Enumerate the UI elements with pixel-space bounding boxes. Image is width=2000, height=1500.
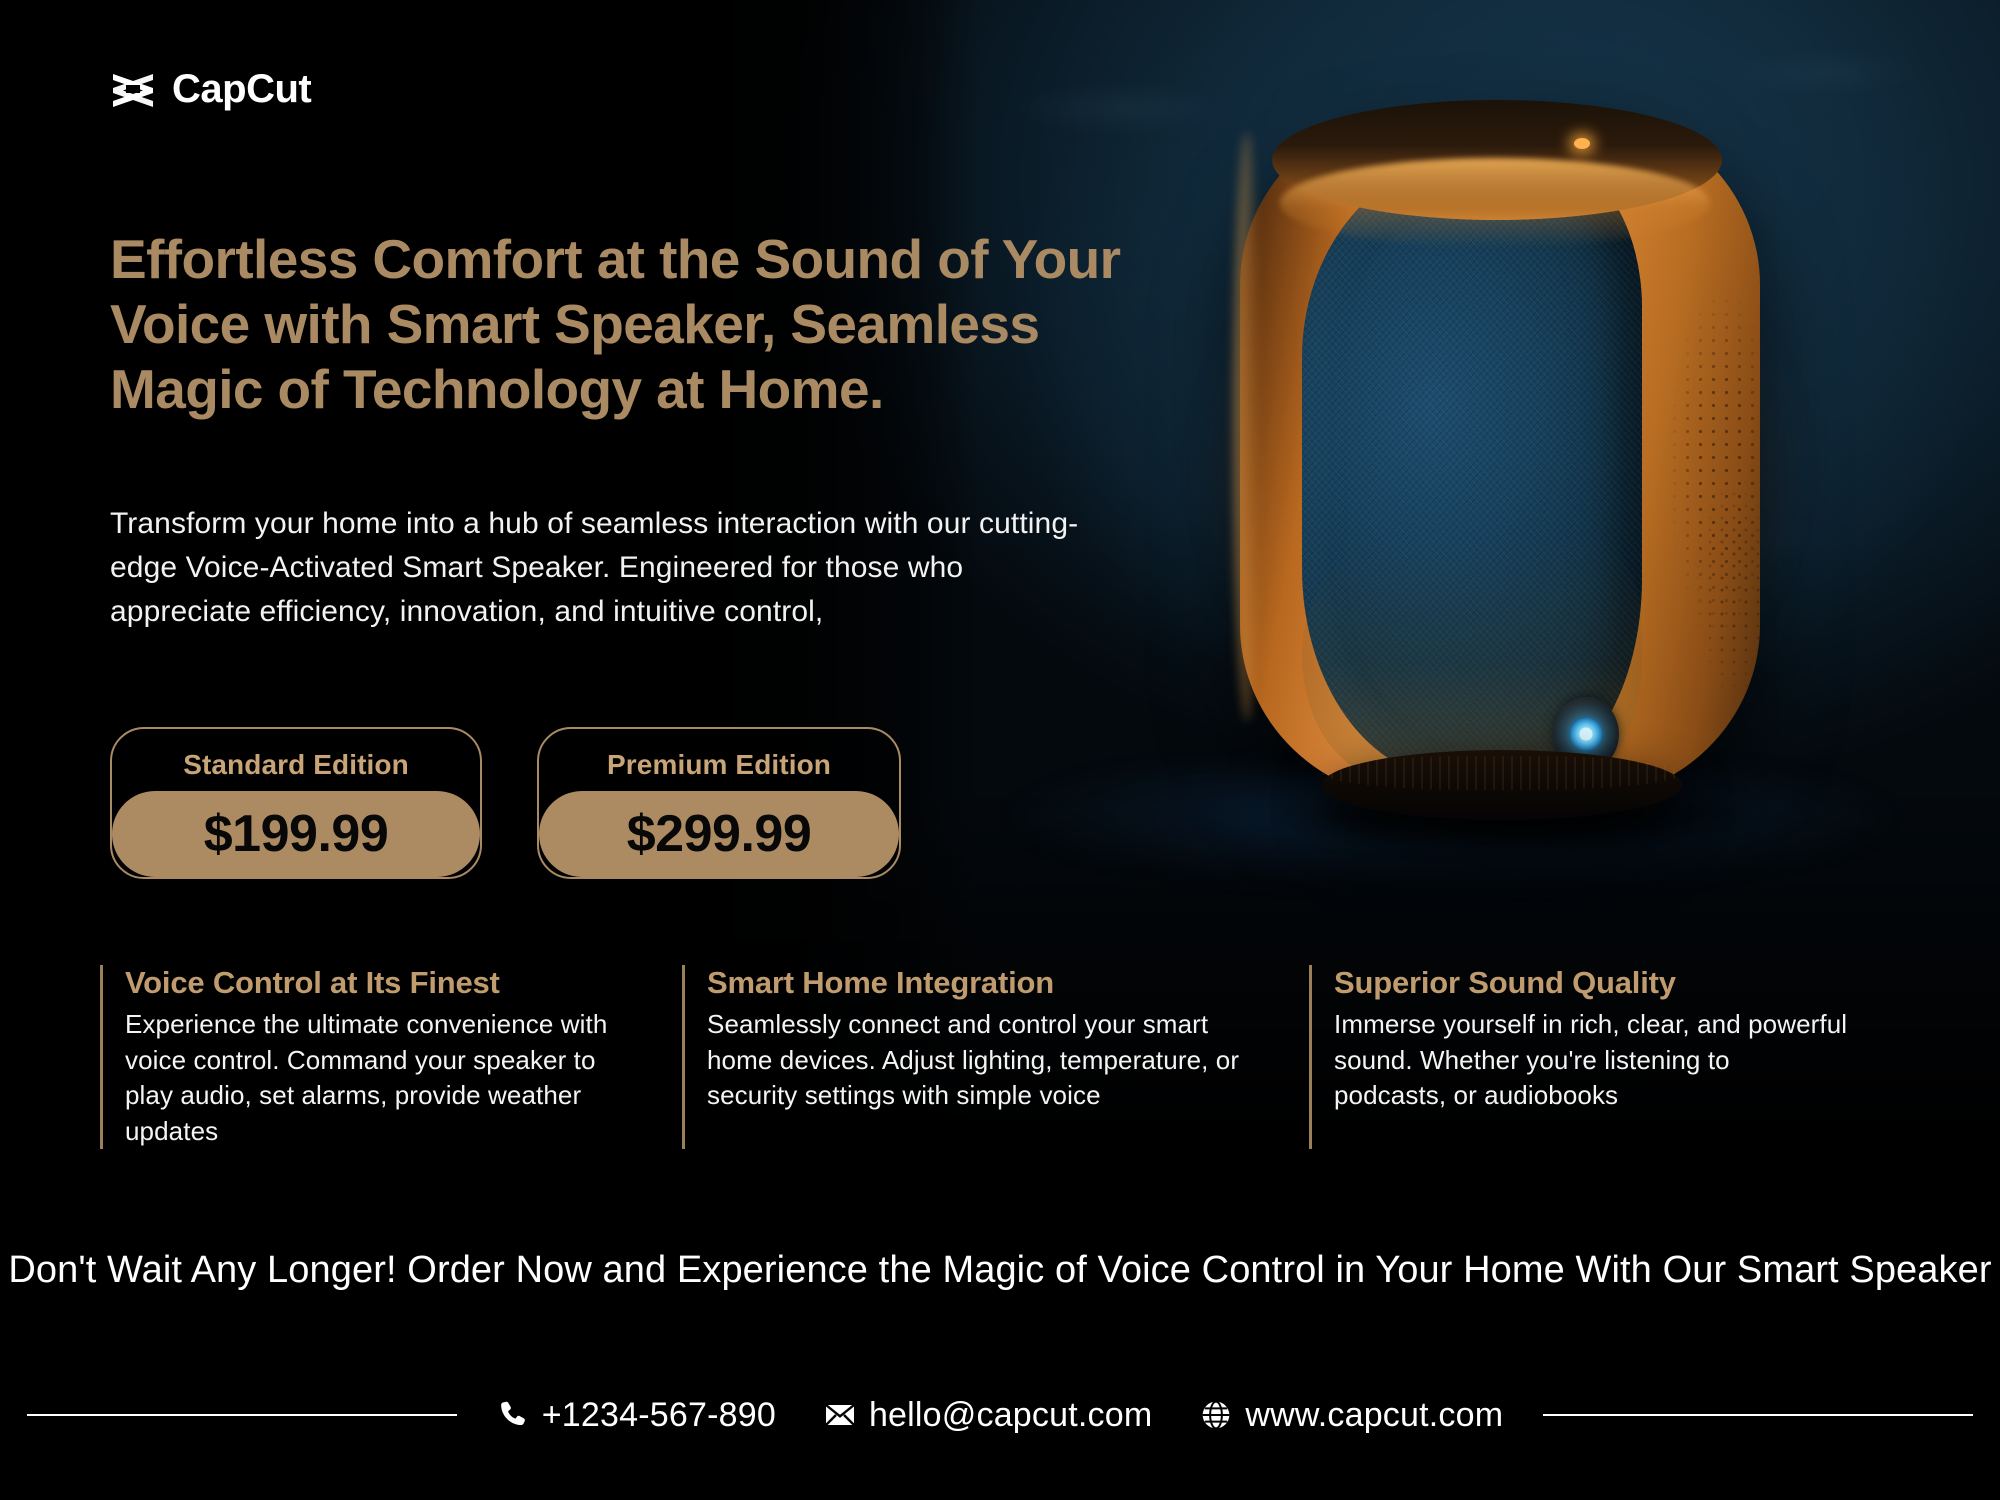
promo-poster: CapCut Effortless Comfort at the Sound o…: [0, 0, 2000, 1500]
globe-icon: [1200, 1399, 1232, 1431]
feature-title: Voice Control at Its Finest: [125, 965, 640, 1001]
contact-website[interactable]: www.capcut.com: [1200, 1396, 1503, 1435]
contact-email-text: hello@capcut.com: [869, 1396, 1152, 1435]
feature-body: Immerse yourself in rich, clear, and pow…: [1334, 1007, 1849, 1114]
footer-divider-left: [27, 1414, 457, 1416]
contact-website-text: www.capcut.com: [1245, 1396, 1503, 1435]
contact-email[interactable]: hello@capcut.com: [824, 1396, 1152, 1435]
phone-icon: [497, 1399, 529, 1431]
feature-body: Experience the ultimate convenience with…: [125, 1007, 640, 1149]
capcut-logo-icon: [110, 68, 156, 110]
page-title: Effortless Comfort at the Sound of Your …: [110, 227, 1170, 422]
footer-contact-bar: +1234-567-890 hello@capcut.com: [0, 1385, 2000, 1445]
brand-logo: CapCut: [110, 68, 311, 110]
feature-title: Smart Home Integration: [707, 965, 1267, 1001]
price-value: $299.99: [539, 791, 899, 877]
price-card-standard[interactable]: Standard Edition $199.99: [110, 727, 482, 879]
intro-paragraph: Transform your home into a hub of seamle…: [110, 502, 1110, 634]
price-value: $199.99: [112, 791, 480, 877]
contact-phone[interactable]: +1234-567-890: [497, 1396, 776, 1435]
pricing-group: Standard Edition $199.99 Premium Edition…: [110, 727, 901, 879]
envelope-icon: [824, 1399, 856, 1431]
price-label: Standard Edition: [183, 741, 409, 791]
contacts-group: +1234-567-890 hello@capcut.com: [497, 1396, 1504, 1435]
brand-name: CapCut: [172, 69, 311, 109]
contact-phone-text: +1234-567-890: [542, 1396, 776, 1435]
feature-card-smart-home: Smart Home Integration Seamlessly connec…: [682, 965, 1267, 1149]
feature-card-sound-quality: Superior Sound Quality Immerse yourself …: [1309, 965, 1849, 1149]
features-row: Voice Control at Its Finest Experience t…: [100, 965, 1920, 1149]
feature-card-voice-control: Voice Control at Its Finest Experience t…: [100, 965, 640, 1149]
price-label: Premium Edition: [607, 741, 831, 791]
call-to-action-text: Don't Wait Any Longer! Order Now and Exp…: [0, 1245, 2000, 1295]
feature-title: Superior Sound Quality: [1334, 965, 1849, 1001]
feature-body: Seamlessly connect and control your smar…: [707, 1007, 1267, 1114]
footer-divider-right: [1543, 1414, 1973, 1416]
price-card-premium[interactable]: Premium Edition $299.99: [537, 727, 901, 879]
